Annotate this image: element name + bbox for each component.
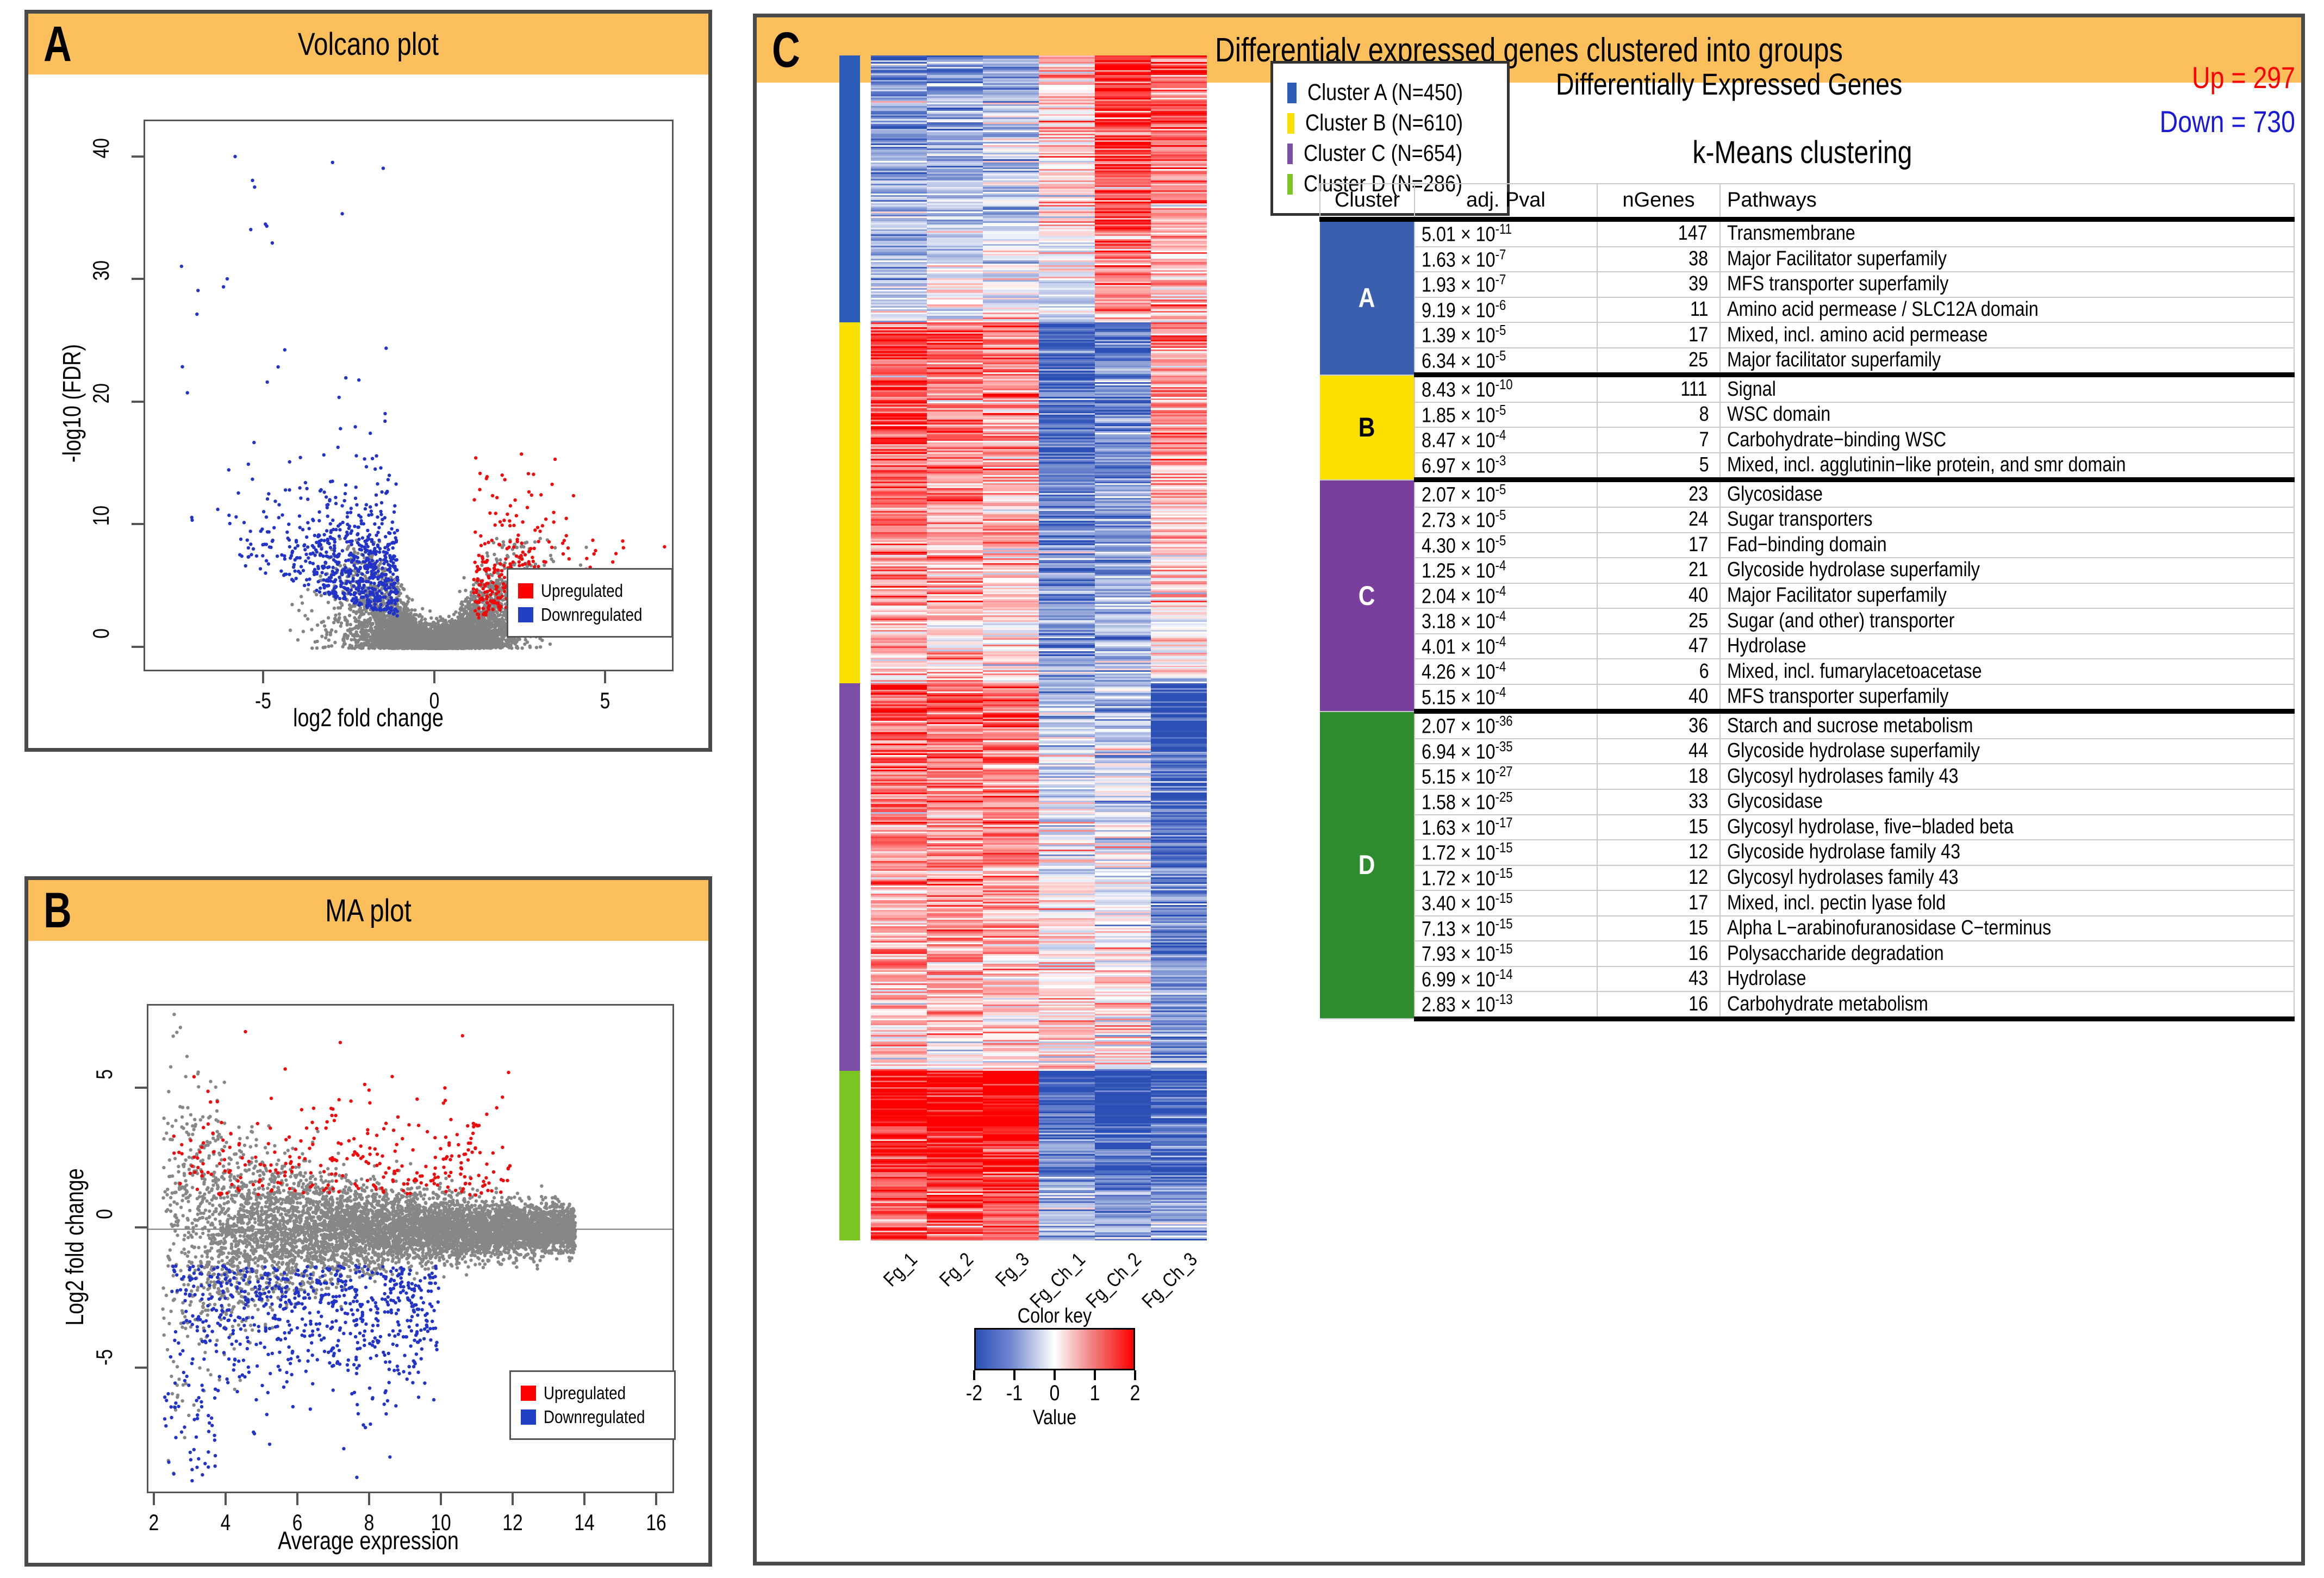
table-row: 4.30 × 10-517Fad−binding domain [1320,533,2294,558]
pathway-cell: Fad−binding domain [1720,533,2294,558]
table-row: 1.72 × 10-1512Glycosyl hydrolases family… [1320,865,2294,891]
ngenes-cell: 15 [1597,815,1720,840]
pval-cell: 5.15 × 10-27 [1415,764,1597,789]
ngenes-cell: 17 [1597,890,1720,916]
pathway-cell: Amino acid permease / SLC12A domain [1720,297,2294,323]
volcano-legend-item: Downregulated [518,604,662,625]
table-row: 6.99 × 10-1443Hydrolase [1320,966,2294,992]
ngenes-cell: 24 [1597,507,1720,533]
pathway-cell: Glycoside hydrolase superfamily [1720,558,2294,583]
color-key-tick [1134,1370,1136,1380]
pval-cell: 4.01 × 10-4 [1415,634,1597,659]
pathway-cell: Carbohydrate metabolism [1720,991,2294,1019]
pval-cell: 1.72 × 10-15 [1415,840,1597,865]
pval-cell: 2.83 × 10-13 [1415,991,1597,1019]
pval-cell: 2.04 × 10-4 [1415,583,1597,609]
pathway-cell: Sugar transporters [1720,507,2294,533]
ngenes-cell: 40 [1597,684,1720,712]
pathway-cell: MFS transporter superfamily [1720,684,2294,712]
pval-cell: 2.07 × 10-5 [1415,480,1597,507]
pathway-cell: Polysaccharide degradation [1720,941,2294,966]
legend-label: Upregulated [544,1383,626,1404]
cluster-legend-item-c: Cluster C (N=654) [1287,140,1493,167]
ngenes-cell: 111 [1597,375,1720,402]
pathway-cell: Starch and sucrose metabolism [1720,712,2294,739]
ngenes-cell: 40 [1597,583,1720,609]
pathway-cell: Glycosyl hydrolases family 43 [1720,764,2294,789]
table-row: 1.63 × 10-738Major Facilitator superfami… [1320,247,2294,272]
pathway-cell: Mixed, incl. amino acid permease [1720,322,2294,348]
pathway-cell: Alpha L−arabinofuranosidase C−terminus [1720,916,2294,941]
table-row: 6.97 × 10-35Mixed, incl. agglutinin−like… [1320,453,2294,480]
pathway-cell: WSC domain [1720,402,2294,428]
color-key-tick-label: -1 [1006,1381,1023,1406]
pathway-cell: MFS transporter superfamily [1720,272,2294,297]
pathway-cell: Glycosyl hydrolase, five−bladed beta [1720,815,2294,840]
ngenes-cell: 16 [1597,941,1720,966]
volcano-y-axis-label: -log10 (FDR) [57,270,86,537]
pval-cell: 6.99 × 10-14 [1415,966,1597,992]
cluster-cell-d: D [1320,712,1415,1019]
deg-counts: Up = 297 Down = 730 [1996,60,2295,139]
heatmap-column-Fg_2 [927,55,983,1240]
pathway-cell: Glycoside hydrolase family 43 [1720,840,2294,865]
ngenes-cell: 6 [1597,659,1720,684]
table-row: 6.34 × 10-525Major facilitator superfami… [1320,348,2294,375]
color-key: Color key -2-1012 Value [974,1305,1135,1430]
pval-cell: 9.19 × 10-6 [1415,297,1597,323]
legend-swatch [521,1386,536,1401]
table-row: A5.01 × 10-11147Transmembrane [1320,220,2294,247]
pval-cell: 5.01 × 10-11 [1415,220,1597,247]
ngenes-cell: 25 [1597,348,1720,375]
pathway-cell: Mixed, incl. fumarylacetoacetase [1720,659,2294,684]
heatmap-column-Fg_Ch_2 [1095,55,1151,1240]
volcano-legend-item: Upregulated [518,581,662,601]
panel-a-header: A Volcano plot [28,14,708,74]
ma-x-axis-label: Average expression [90,1526,647,1555]
heatmap-column-Fg_3 [983,55,1039,1240]
legend-swatch [521,1409,536,1425]
heatmap-cluster-bar [839,55,860,1240]
panel-a-title: Volcano plot [90,26,647,63]
heatmap-column-Fg_Ch_3 [1151,55,1207,1240]
th-ngenes: nGenes [1597,184,1720,220]
table-row: 8.47 × 10-47Carbohydrate−binding WSC [1320,427,2294,453]
table-row: 1.58 × 10-2533Glycosidase [1320,789,2294,815]
ngenes-cell: 147 [1597,220,1720,247]
table-row: 7.13 × 10-1515Alpha L−arabinofuranosidas… [1320,916,2294,941]
ngenes-cell: 8 [1597,402,1720,428]
pval-cell: 7.13 × 10-15 [1415,916,1597,941]
pathway-cell: Glycosidase [1720,480,2294,507]
table-row: 3.40 × 10-1517Mixed, incl. pectin lyase … [1320,890,2294,916]
pval-cell: 1.25 × 10-4 [1415,558,1597,583]
color-key-tick-label: -2 [966,1381,982,1406]
color-key-tick-label: 1 [1090,1381,1100,1406]
pathway-cell: Major Facilitator superfamily [1720,583,2294,609]
volcano-legend: UpregulatedDownregulated [507,568,673,638]
volcano-x-axis-label: log2 fold change [90,703,647,732]
heatmap-column-Fg_Ch_1 [1039,55,1095,1240]
table-row: 2.83 × 10-1316Carbohydrate metabolism [1320,991,2294,1019]
table-row: B8.43 × 10-10111Signal [1320,375,2294,402]
cluster-legend-item-a: Cluster A (N=450) [1287,79,1493,106]
table-row: 1.39 × 10-517Mixed, incl. amino acid per… [1320,322,2294,348]
table-row: 6.94 × 10-3544Glycoside hydrolase superf… [1320,739,2294,764]
ngenes-cell: 5 [1597,453,1720,480]
legend-label: Upregulated [541,581,623,601]
pval-cell: 1.85 × 10-5 [1415,402,1597,428]
ngenes-cell: 17 [1597,322,1720,348]
table-row: 3.18 × 10-425Sugar (and other) transport… [1320,608,2294,634]
pval-cell: 6.97 × 10-3 [1415,453,1597,480]
table-row: 4.01 × 10-447Hydrolase [1320,634,2294,659]
pval-cell: 1.63 × 10-17 [1415,815,1597,840]
legend-label: Downregulated [541,604,642,625]
heatmap-grid [871,55,1207,1240]
panel-b-ma: B MA plot -505 246810121416 Average expr… [24,876,712,1567]
ngenes-cell: 15 [1597,916,1720,941]
pval-cell: 1.72 × 10-15 [1415,865,1597,891]
th-cluster: Cluster [1320,184,1415,220]
pval-cell: 6.94 × 10-35 [1415,739,1597,764]
pathway-table-head: Cluster adj. Pval nGenes Pathways [1320,184,2294,220]
legend-swatch [518,583,533,598]
table-row: 1.25 × 10-421Glycoside hydrolase superfa… [1320,558,2294,583]
ngenes-cell: 36 [1597,712,1720,739]
pval-cell: 6.34 × 10-5 [1415,348,1597,375]
down-count: Down = 730 [2047,104,2296,139]
figure-root: A Volcano plot 010203040 -505 log2 fold … [0,0,2324,1578]
color-key-tick-labels: -2-1012 [974,1381,1135,1406]
table-row: 4.26 × 10-46Mixed, incl. fumarylacetoace… [1320,659,2294,684]
ngenes-cell: 18 [1597,764,1720,789]
color-key-tick [1013,1370,1015,1380]
ngenes-cell: 25 [1597,608,1720,634]
table-row: 5.15 × 10-440MFS transporter superfamily [1320,684,2294,712]
table-row: 2.04 × 10-440Major Facilitator superfami… [1320,583,2294,609]
table-row: 1.85 × 10-58WSC domain [1320,402,2294,428]
cluster-swatch [1287,174,1293,195]
table-row: 1.72 × 10-1512Glycoside hydrolase family… [1320,840,2294,865]
th-pval: adj. Pval [1415,184,1597,220]
ngenes-cell: 33 [1597,789,1720,815]
heatmap [839,55,1220,1240]
color-key-tick [973,1370,975,1380]
color-key-tick [1094,1370,1096,1380]
panel-a-letter: A [43,19,72,69]
color-key-value-label: Value [986,1406,1123,1430]
table-row: 1.63 × 10-1715Glycosyl hydrolase, five−b… [1320,815,2294,840]
heatmap-column-Fg_1 [871,55,927,1240]
pval-cell: 7.93 × 10-15 [1415,941,1597,966]
panel-c-clusters: C Differentialy expressed genes clustere… [753,14,2305,1565]
pval-cell: 5.15 × 10-4 [1415,684,1597,712]
pathway-cell: Glycosyl hydrolases family 43 [1720,865,2294,891]
pathway-cell: Mixed, incl. pectin lyase fold [1720,890,2294,916]
ngenes-cell: 38 [1597,247,1720,272]
ngenes-cell: 21 [1597,558,1720,583]
pathway-cell: Signal [1720,375,2294,402]
pathway-table: Cluster adj. Pval nGenes Pathways A5.01 … [1319,183,2295,1021]
up-count: Up = 297 [2047,60,2296,95]
ngenes-cell: 17 [1597,533,1720,558]
ngenes-cell: 44 [1597,739,1720,764]
table-row: 1.93 × 10-739MFS transporter superfamily [1320,272,2294,297]
panel-b-letter: B [43,885,72,935]
ngenes-cell: 23 [1597,480,1720,507]
pathway-cell: Major Facilitator superfamily [1720,247,2294,272]
pathway-cell: Glycoside hydrolase superfamily [1720,739,2294,764]
cluster-band-b [839,322,860,684]
cluster-cell-a: A [1320,220,1415,375]
cluster-band-a [839,55,860,322]
ma-legend: UpregulatedDownregulated [509,1370,676,1440]
table-row: 5.15 × 10-2718Glycosyl hydrolases family… [1320,764,2294,789]
ma-legend-item: Upregulated [521,1383,664,1404]
cluster-band-c [839,683,860,1071]
panel-b-title: MA plot [90,893,647,929]
table-row: 9.19 × 10-611Amino acid permease / SLC12… [1320,297,2294,323]
pval-cell: 8.47 × 10-4 [1415,427,1597,453]
cluster-legend-item-b: Cluster B (N=610) [1287,110,1493,136]
cluster-legend-label: Cluster C (N=654) [1304,140,1462,167]
panel-b-header: B MA plot [28,880,708,941]
pathway-cell: Carbohydrate−binding WSC [1720,427,2294,453]
ngenes-cell: 11 [1597,297,1720,323]
panel-c-letter: C [772,25,800,75]
pval-cell: 1.58 × 10-25 [1415,789,1597,815]
kmeans-label: k-Means clustering [1692,134,1912,171]
table-row: 2.73 × 10-524Sugar transporters [1320,507,2294,533]
ngenes-cell: 12 [1597,865,1720,891]
pval-cell: 2.73 × 10-5 [1415,507,1597,533]
pval-cell: 1.63 × 10-7 [1415,247,1597,272]
pval-cell: 1.93 × 10-7 [1415,272,1597,297]
ngenes-cell: 16 [1597,991,1720,1019]
table-row: C2.07 × 10-523Glycosidase [1320,480,2294,507]
color-key-tick [1054,1370,1056,1380]
ngenes-cell: 47 [1597,634,1720,659]
pathway-cell: Hydrolase [1720,634,2294,659]
ngenes-cell: 12 [1597,840,1720,865]
legend-label: Downregulated [544,1407,645,1427]
cluster-swatch [1287,113,1294,134]
legend-swatch [518,607,533,622]
pathway-cell: Glycosidase [1720,789,2294,815]
pval-cell: 3.40 × 10-15 [1415,890,1597,916]
pathway-cell: Major facilitator superfamily [1720,348,2294,375]
pval-cell: 8.43 × 10-10 [1415,375,1597,402]
color-key-gradient [974,1328,1135,1370]
cluster-legend-label: Cluster B (N=610) [1305,110,1463,136]
cluster-swatch [1287,144,1293,164]
color-key-ticks [974,1370,1135,1381]
pval-cell: 3.18 × 10-4 [1415,608,1597,634]
th-pathways: Pathways [1720,184,2294,220]
pathway-cell: Hydrolase [1720,966,2294,992]
deg-summary-title: Differentially Expressed Genes [1556,66,1902,102]
pval-cell: 4.30 × 10-5 [1415,533,1597,558]
pathway-cell: Transmembrane [1720,220,2294,247]
cluster-swatch [1287,83,1297,103]
color-key-tick-label: 0 [1050,1381,1060,1406]
ma-y-axis-label: Log2 fold change [60,1113,89,1381]
ngenes-cell: 39 [1597,272,1720,297]
table-row: 7.93 × 10-1516Polysaccharide degradation [1320,941,2294,966]
cluster-legend-label: Cluster A (N=450) [1307,79,1463,106]
cluster-cell-c: C [1320,480,1415,712]
ngenes-cell: 7 [1597,427,1720,453]
pathway-cell: Mixed, incl. agglutinin−like protein, an… [1720,453,2294,480]
color-key-title: Color key [986,1305,1123,1328]
cluster-cell-b: B [1320,375,1415,480]
pval-cell: 4.26 × 10-4 [1415,659,1597,684]
ma-legend-item: Downregulated [521,1407,664,1427]
pval-cell: 2.07 × 10-36 [1415,712,1597,739]
color-key-tick-label: 2 [1130,1381,1141,1406]
table-header-row: Cluster adj. Pval nGenes Pathways [1320,184,2294,220]
ngenes-cell: 43 [1597,966,1720,992]
cluster-band-d [839,1071,860,1240]
table-row: D2.07 × 10-3636Starch and sucrose metabo… [1320,712,2294,739]
panel-a-volcano: A Volcano plot 010203040 -505 log2 fold … [24,10,712,752]
pval-cell: 1.39 × 10-5 [1415,322,1597,348]
pathway-table-body: A5.01 × 10-11147Transmembrane1.63 × 10-7… [1320,220,2294,1019]
pathway-cell: Sugar (and other) transporter [1720,608,2294,634]
